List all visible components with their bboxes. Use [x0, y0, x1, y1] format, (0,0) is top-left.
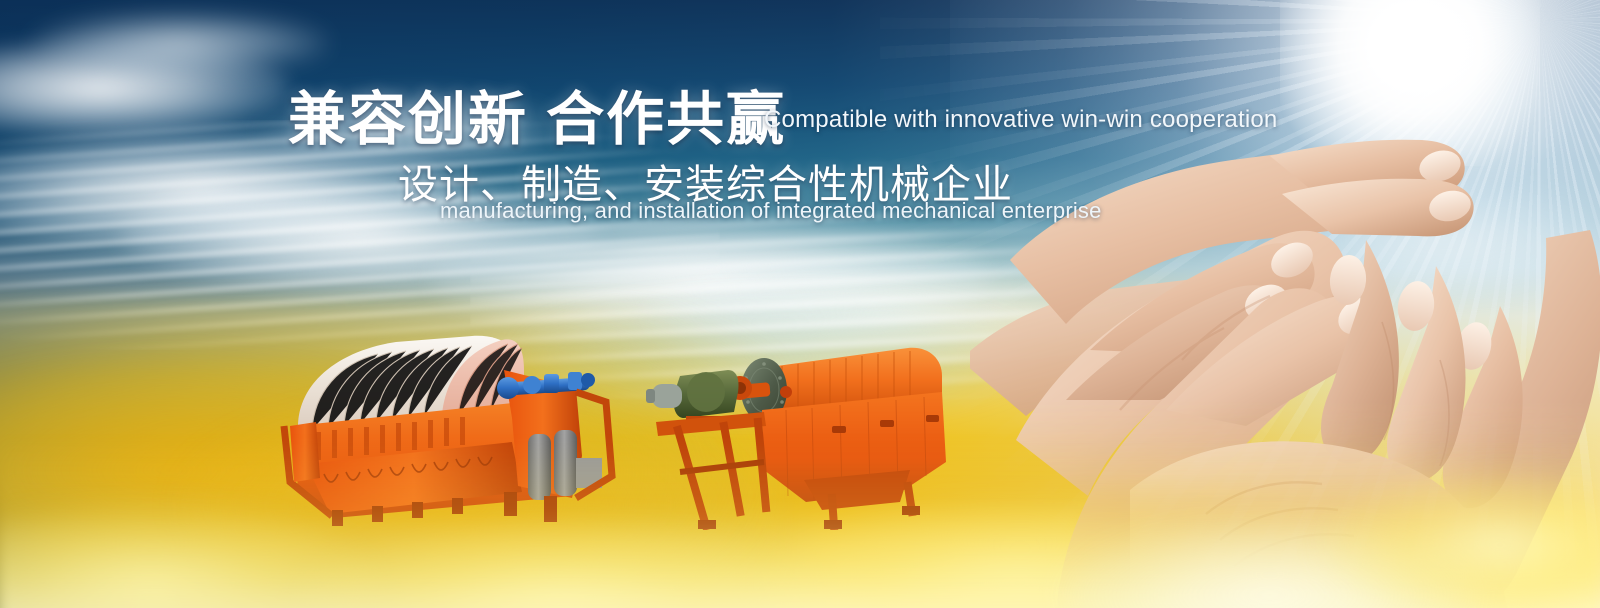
- subheadline-english: manufacturing, and installation of integ…: [440, 198, 1102, 224]
- headline-english: Compatible with innovative win-win coope…: [764, 106, 1277, 134]
- banner-copy: 兼容创新 合作共赢 Compatible with innovative win…: [0, 0, 1600, 608]
- headline-chinese: 兼容创新 合作共赢: [288, 72, 786, 156]
- hero-banner: 兼容创新 合作共赢 Compatible with innovative win…: [0, 0, 1600, 608]
